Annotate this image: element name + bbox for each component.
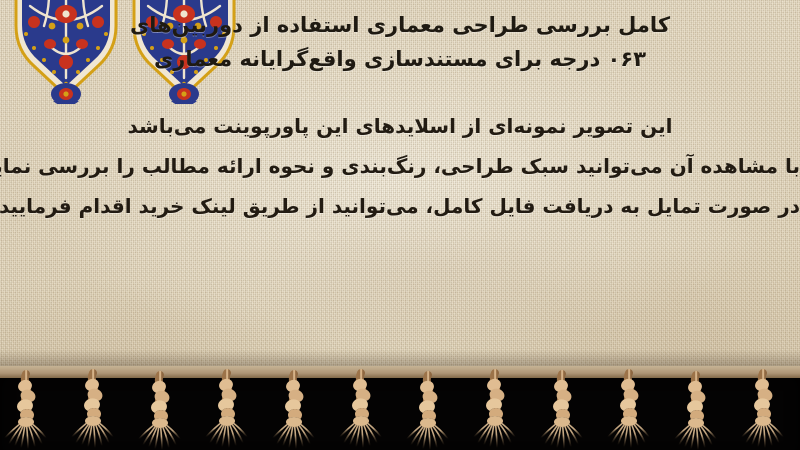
slide-body-line-1: این تصویر نمونه‌ای از اسلایدهای این پاور…	[0, 114, 800, 138]
slide-canvas: کامل بررسی طراحی معماری استفاده از دوربی…	[0, 0, 800, 450]
tassel-fringe-band	[0, 366, 800, 450]
slide-title-line-2: ۳۶۰ درجه برای مستندسازی واقع‌گرایانه معم…	[0, 47, 800, 71]
tassel-fringe-graphic	[0, 366, 800, 450]
slide-body-line-3: در صورت تمایل به دریافت فایل کامل، می‌تو…	[0, 194, 800, 218]
slide-title-line-1: کامل بررسی طراحی معماری استفاده از دوربی…	[0, 13, 800, 37]
slide-body-line-2: با مشاهده آن می‌توانید سبک طراحی، رنگ‌بن…	[0, 154, 800, 178]
